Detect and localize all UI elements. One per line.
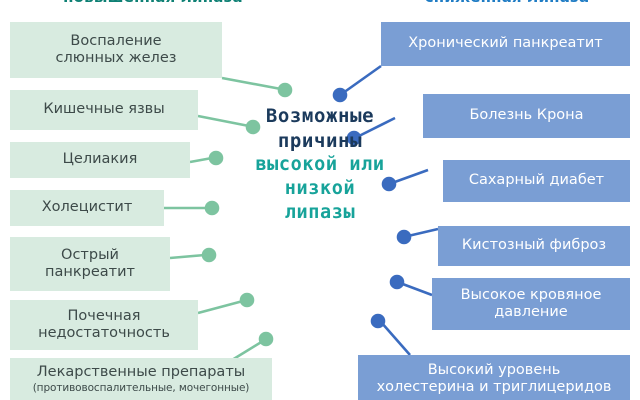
right-item-label-line1: Высокий уровень	[428, 362, 561, 379]
left-item-box[interactable]: Лекарственные препараты (противовоспалит…	[10, 358, 272, 400]
left-item-label-line1: Целиакия	[63, 151, 138, 168]
center-title-block: Возможные причины высокой или низкой лип…	[236, 104, 404, 226]
left-item-box[interactable]: Острый панкреатит	[10, 237, 170, 291]
left-item-label-line1: Воспаление	[70, 33, 161, 50]
left-item-label-line1: Почечная	[68, 308, 141, 325]
infographic-canvas: повышенная липаза сниженная липаза Воспа…	[0, 0, 640, 400]
center-title-line4: низкой	[236, 177, 404, 201]
center-title-line2: причины	[236, 129, 404, 154]
left-item-box[interactable]: Воспаление слюнных желез	[10, 22, 222, 78]
right-item-label-line1: Болезнь Крона	[469, 107, 583, 124]
left-item-box[interactable]: Кишечные язвы	[10, 90, 198, 130]
right-item-box[interactable]: Высокое кровяное давление	[432, 278, 630, 330]
right-item-label-line1: Кистозный фиброз	[462, 237, 606, 254]
right-item-box[interactable]: Болезнь Крона	[423, 94, 630, 138]
left-item-label-line1: Холецистит	[42, 199, 133, 216]
right-item-label-line2: холестерина и триглицеридов	[377, 379, 612, 396]
column-header-elevated-lipase: повышенная липаза	[38, 0, 268, 6]
right-item-box[interactable]: Кистозный фиброз	[438, 226, 630, 266]
left-item-label-line2: недостаточность	[38, 325, 170, 342]
right-item-label-line1: Высокое кровяное	[461, 287, 602, 304]
right-item-label-line1: Сахарный диабет	[469, 172, 604, 189]
left-item-label-line1: Кишечные язвы	[43, 101, 164, 118]
right-item-box[interactable]: Хронический панкреатит	[381, 22, 630, 66]
right-item-box[interactable]: Сахарный диабет	[443, 160, 630, 202]
left-item-label-line2: панкреатит	[45, 264, 135, 281]
left-item-box[interactable]: Целиакия	[10, 142, 190, 178]
left-item-label-line1: Лекарственные препараты	[37, 364, 245, 381]
center-title-line5: липазы	[236, 201, 404, 225]
center-title-line1: Возможные	[236, 104, 404, 129]
left-item-label-line2: слюнных желез	[56, 50, 177, 67]
left-item-box[interactable]: Почечная недостаточность	[10, 300, 198, 350]
left-item-sublabel: (противовоспалительные, мочегонные)	[33, 382, 250, 394]
left-item-label-line1: Острый	[61, 247, 119, 264]
right-item-box[interactable]: Высокий уровень холестерина и триглицери…	[358, 355, 630, 400]
left-item-box[interactable]: Холецистит	[10, 190, 164, 226]
right-item-label-line2: давление	[494, 304, 567, 321]
center-title-line3: высокой или	[236, 153, 404, 177]
column-header-reduced-lipase: сниженная липаза	[392, 0, 622, 6]
right-item-label-line1: Хронический панкреатит	[408, 35, 603, 52]
